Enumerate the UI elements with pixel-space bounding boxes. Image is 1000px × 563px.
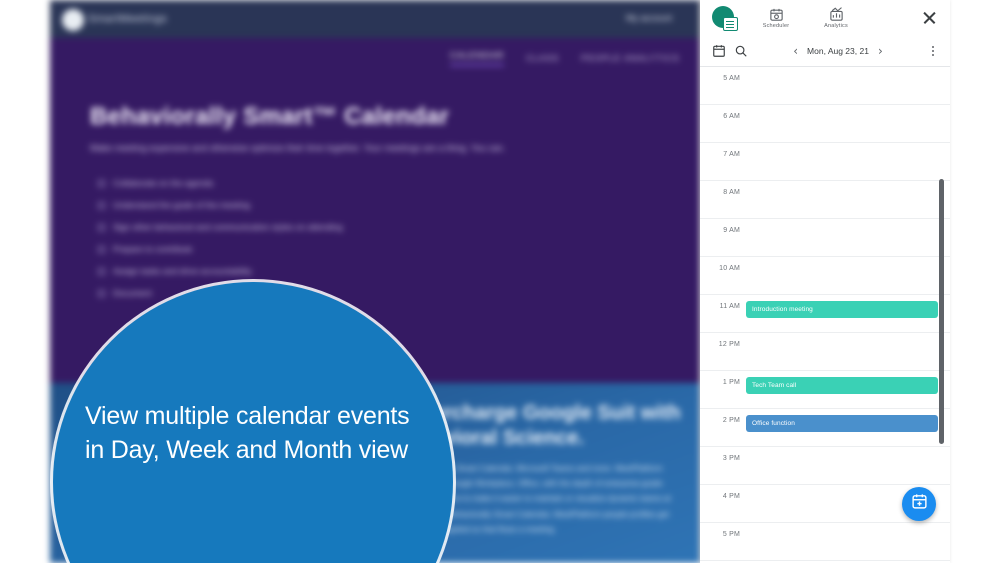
tab-analytics-label: Analytics bbox=[824, 23, 848, 29]
time-row[interactable]: 7 AM bbox=[700, 143, 950, 181]
tab-analytics[interactable]: Analytics bbox=[814, 7, 858, 29]
list-item-label: Document bbox=[113, 288, 152, 298]
calendar-plus-icon bbox=[911, 493, 928, 515]
site-nav-item-calendar[interactable]: CALENDAR bbox=[450, 50, 504, 66]
time-label: 6 AM bbox=[700, 113, 740, 120]
time-label: 3 PM bbox=[700, 455, 740, 462]
site-nav: CALENDAR CLASS PEOPLE ANALYTICS RESOURCE… bbox=[450, 50, 700, 66]
checkbox-icon bbox=[98, 290, 105, 297]
checkbox-icon bbox=[98, 180, 105, 187]
meetplatform-logo-icon bbox=[712, 5, 738, 31]
time-label: 8 AM bbox=[700, 189, 740, 196]
list-item-label: Sign other behavioral and communication … bbox=[113, 222, 343, 232]
scrollbar-thumb[interactable] bbox=[939, 179, 944, 444]
list-item: Assign tasks and drive accountability bbox=[98, 266, 528, 276]
list-item-label: Prepare to contribute bbox=[113, 244, 192, 254]
tab-scheduler[interactable]: Scheduler bbox=[754, 7, 798, 29]
time-row[interactable]: 10 AM bbox=[700, 257, 950, 295]
time-row[interactable]: 6 AM bbox=[700, 105, 950, 143]
calendar-event[interactable]: Office function bbox=[746, 415, 938, 432]
site-logo-icon bbox=[62, 9, 84, 31]
calendar-event[interactable]: Introduction meeting bbox=[746, 301, 938, 318]
time-label: 2 PM bbox=[700, 417, 740, 424]
checkbox-icon bbox=[98, 224, 105, 231]
time-row[interactable]: 9 AM bbox=[700, 219, 950, 257]
time-label: 5 PM bbox=[700, 531, 740, 538]
time-label: 1 PM bbox=[700, 379, 740, 386]
time-label: 9 AM bbox=[700, 227, 740, 234]
prev-day-button[interactable]: ‹ bbox=[793, 45, 798, 57]
next-day-button[interactable]: › bbox=[878, 45, 883, 57]
list-item: Prepare to contribute bbox=[98, 244, 528, 254]
site-logo-text: SmartMeetings bbox=[88, 13, 167, 25]
site-account-link[interactable]: My account bbox=[626, 13, 672, 23]
screenshot-root: SmartMeetings My account CALENDAR CLASS … bbox=[0, 0, 1000, 563]
date-navigator: ‹ Mon, Aug 23, 21 › bbox=[752, 45, 924, 57]
site-hero-heading: Behaviorally Smart™ Calendar bbox=[90, 103, 449, 131]
time-label: 12 PM bbox=[700, 341, 740, 348]
site-nav-item-people-analytics[interactable]: PEOPLE ANALYTICS bbox=[581, 53, 680, 63]
search-icon[interactable] bbox=[730, 40, 752, 62]
more-vertical-icon[interactable] bbox=[924, 40, 942, 62]
close-icon[interactable] bbox=[920, 9, 938, 27]
create-event-button[interactable] bbox=[902, 487, 936, 521]
time-label: 4 PM bbox=[700, 493, 740, 500]
time-label: 11 AM bbox=[700, 303, 740, 310]
current-date-label[interactable]: Mon, Aug 23, 21 bbox=[807, 46, 869, 56]
time-row[interactable]: 3 PM bbox=[700, 447, 950, 485]
time-label: 7 AM bbox=[700, 151, 740, 158]
callout-text: View multiple calendar events in Day, We… bbox=[85, 400, 425, 467]
panel-header: Scheduler Analytics bbox=[700, 0, 950, 36]
time-label: 5 AM bbox=[700, 75, 740, 82]
checkbox-icon bbox=[98, 268, 105, 275]
bar-chart-icon bbox=[829, 7, 844, 22]
panel-header-tabs: Scheduler Analytics bbox=[754, 7, 858, 29]
checkbox-icon bbox=[98, 202, 105, 209]
time-label: 10 AM bbox=[700, 265, 740, 272]
scrollbar[interactable] bbox=[941, 67, 947, 563]
list-item-label: Understand the goals of the meeting bbox=[113, 200, 250, 210]
list-item: Collaborate on the agenda bbox=[98, 178, 528, 188]
time-row[interactable]: 12 PM bbox=[700, 333, 950, 371]
calendar-panel: Scheduler Analytics bbox=[700, 0, 950, 563]
checkbox-icon bbox=[98, 246, 105, 253]
list-item: Sign other behavioral and communication … bbox=[98, 222, 528, 232]
site-benefit-list: Collaborate on the agenda Understand the… bbox=[98, 178, 528, 310]
calendar-day-grid: 5 AM 6 AM 7 AM 8 AM 9 AM 10 AM 11 AM 12 … bbox=[700, 67, 950, 563]
site-topbar: SmartMeetings My account bbox=[50, 0, 700, 38]
calendar-clock-icon bbox=[769, 7, 784, 22]
calendar-icon[interactable] bbox=[708, 40, 730, 62]
site-hero-subtitle: Make meeting expensive and otherwise opt… bbox=[90, 143, 505, 153]
list-item-label: Assign tasks and drive accountability bbox=[113, 266, 252, 276]
time-row[interactable]: 5 AM bbox=[700, 67, 950, 105]
tab-scheduler-label: Scheduler bbox=[763, 23, 790, 29]
list-item-label: Collaborate on the agenda bbox=[113, 178, 213, 188]
list-item: Understand the goals of the meeting bbox=[98, 200, 528, 210]
calendar-event[interactable]: Tech Team call bbox=[746, 377, 938, 394]
site-nav-item-class[interactable]: CLASS bbox=[526, 53, 559, 63]
time-row[interactable]: 8 AM bbox=[700, 181, 950, 219]
time-row[interactable]: 5 PM bbox=[700, 523, 950, 561]
calendar-toolbar: ‹ Mon, Aug 23, 21 › bbox=[700, 36, 950, 67]
